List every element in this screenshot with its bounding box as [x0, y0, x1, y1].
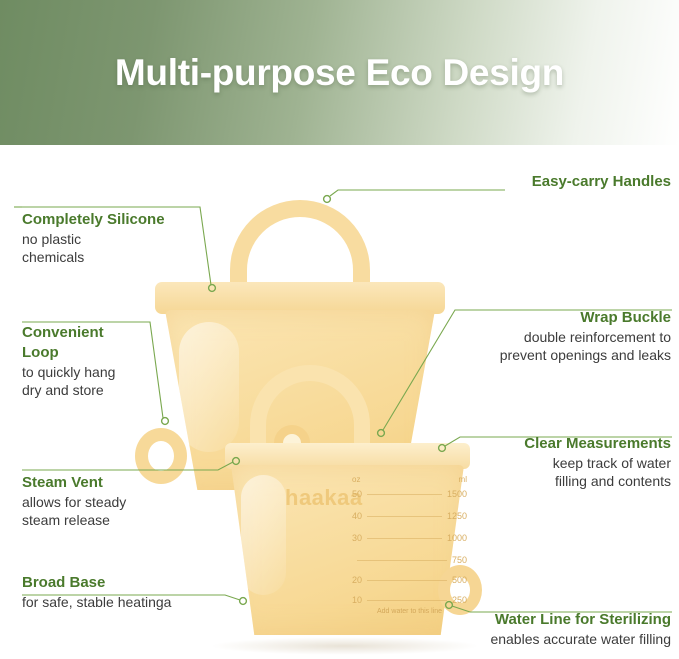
callout-title: Easy-carry Handles [411, 172, 671, 192]
tick-bar [367, 600, 447, 601]
callout-body: for safe, stable heatinga [22, 594, 171, 610]
tick-ml: 1250 [447, 511, 467, 521]
callout-title: Clear Measurements [421, 434, 671, 454]
infographic-page: Multi-purpose Eco Design haakaa [0, 0, 679, 659]
callout-title: Steam Vent [22, 473, 222, 493]
callout-steam-vent: Steam Vent allows for steady steam relea… [22, 473, 222, 530]
callout-title: Wrap Buckle [391, 308, 671, 328]
callout-wrap-buckle: Wrap Buckle double reinforcement to prev… [391, 308, 671, 365]
tick-bar [357, 560, 447, 561]
callout-body: keep track of water filling and contents [553, 455, 671, 489]
tick-bar [367, 494, 442, 495]
callout-clear-measurements: Clear Measurements keep track of water f… [421, 434, 671, 491]
measurement-tick: 750 [352, 555, 467, 565]
tick-ml: 750 [452, 555, 467, 565]
tick-bar [367, 538, 442, 539]
callout-title: Convenient Loop [22, 323, 222, 363]
carry-handle-back [230, 200, 370, 290]
callout-easy-carry-handles: Easy-carry Handles [411, 172, 671, 192]
callout-body: enables accurate water filling [490, 631, 671, 647]
callout-body: double reinforcement to prevent openings… [500, 329, 671, 363]
tick-ml: 250 [452, 595, 467, 605]
callout-body: to quickly hang dry and store [22, 364, 115, 398]
tick-oz: 20 [352, 575, 362, 585]
tick-ml: 500 [452, 575, 467, 585]
callout-convenient-loop: Convenient Loop to quickly hang dry and … [22, 323, 222, 400]
callout-broad-base: Broad Base for safe, stable heatinga [22, 573, 252, 611]
tick-ml: 1000 [447, 533, 467, 543]
callout-body: no plastic chemicals [22, 231, 84, 265]
measurement-scale: oz ml 50 1500 40 1250 30 1000 750 [352, 475, 467, 620]
measurement-tick: 10 250 [352, 595, 467, 605]
carry-handle-front [250, 365, 370, 443]
tick-oz: 40 [352, 511, 362, 521]
page-title: Multi-purpose Eco Design [0, 0, 679, 145]
brand-logo-text: haakaa [285, 485, 363, 511]
tick-bar [367, 580, 447, 581]
callout-title: Completely Silicone [22, 210, 242, 230]
tick-oz: 30 [352, 533, 362, 543]
callout-title: Water Line for Sterilizing [381, 610, 671, 630]
header-banner: Multi-purpose Eco Design [0, 0, 679, 145]
unit-label-left: oz [352, 475, 360, 484]
measurement-tick: 30 1000 [352, 533, 467, 543]
tick-bar [367, 516, 442, 517]
measurement-tick: 20 500 [352, 575, 467, 585]
tick-oz: 50 [352, 489, 362, 499]
tick-oz: 10 [352, 595, 362, 605]
callout-completely-silicone: Completely Silicone no plastic chemicals [22, 210, 242, 267]
callout-water-line: Water Line for Sterilizing enables accur… [381, 610, 671, 648]
callout-title: Broad Base [22, 573, 252, 593]
measurement-tick: 40 1250 [352, 511, 467, 521]
callout-body: allows for steady steam release [22, 494, 126, 528]
